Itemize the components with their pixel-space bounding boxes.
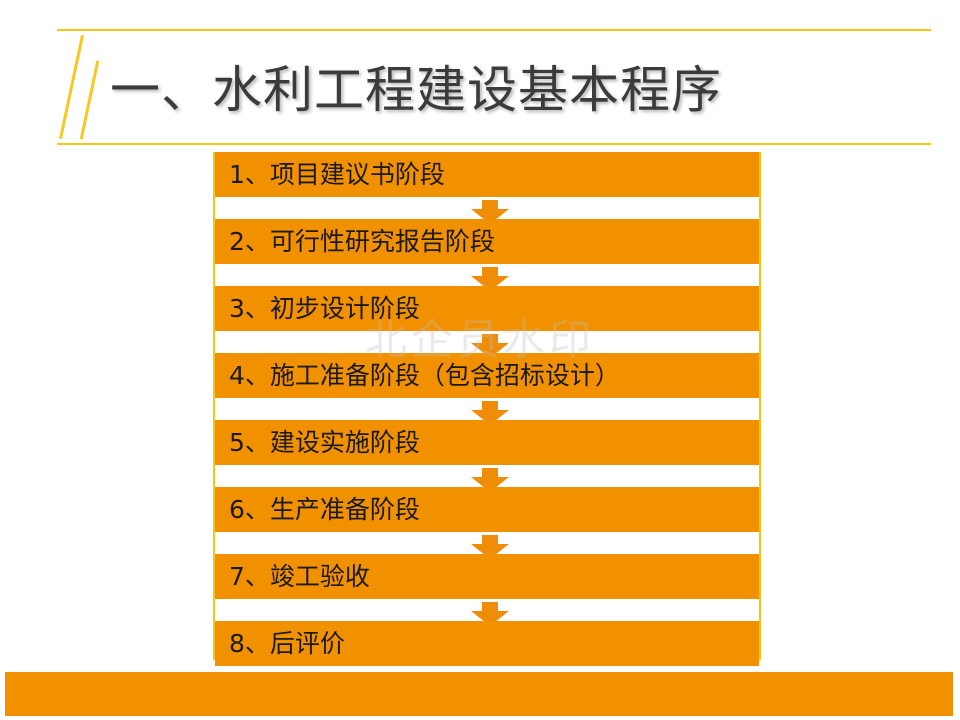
flow-step-8[interactable]: 8、后评价 bbox=[215, 621, 759, 666]
header-top-rule bbox=[57, 29, 931, 31]
flow-step-4[interactable]: 4、施工准备阶段（包含招标设计） bbox=[215, 353, 759, 398]
flow-step-7[interactable]: 7、竣工验收 bbox=[215, 554, 759, 599]
decorative-slash-icon-1 bbox=[59, 35, 84, 139]
flow-step-3[interactable]: 3、初步设计阶段 bbox=[215, 286, 759, 331]
flow-step-6-label: 6、生产准备阶段 bbox=[215, 487, 420, 532]
flow-step-6[interactable]: 6、生产准备阶段 bbox=[215, 487, 759, 532]
flow-step-3-label: 3、初步设计阶段 bbox=[215, 286, 420, 331]
flow-step-2-label: 2、可行性研究报告阶段 bbox=[215, 219, 495, 264]
flow-step-2[interactable]: 2、可行性研究报告阶段 bbox=[215, 219, 759, 264]
slide-title: 一、水利工程建设基本程序 bbox=[110, 54, 722, 126]
decorative-slash-icon-2 bbox=[80, 61, 100, 140]
flow-step-1[interactable]: 1、项目建议书阶段 bbox=[215, 152, 759, 197]
flow-step-5[interactable]: 5、建设实施阶段 bbox=[215, 420, 759, 465]
flow-step-7-label: 7、竣工验收 bbox=[215, 554, 370, 599]
footer-bar bbox=[5, 672, 953, 716]
flow-step-4-label: 4、施工准备阶段（包含招标设计） bbox=[215, 353, 620, 398]
flow-step-8-label: 8、后评价 bbox=[215, 621, 345, 666]
slide-canvas: 一、水利工程建设基本程序 1、项目建议书阶段 2、可行性研究报告阶段 3、初步设… bbox=[0, 0, 960, 720]
header-bottom-rule bbox=[57, 143, 931, 145]
flow-guide-line-right bbox=[759, 152, 761, 660]
flow-step-1-label: 1、项目建议书阶段 bbox=[215, 152, 445, 197]
flow-step-5-label: 5、建设实施阶段 bbox=[215, 420, 420, 465]
process-flow-chart: 1、项目建议书阶段 2、可行性研究报告阶段 3、初步设计阶段 4、施工准备阶段（… bbox=[213, 152, 761, 660]
